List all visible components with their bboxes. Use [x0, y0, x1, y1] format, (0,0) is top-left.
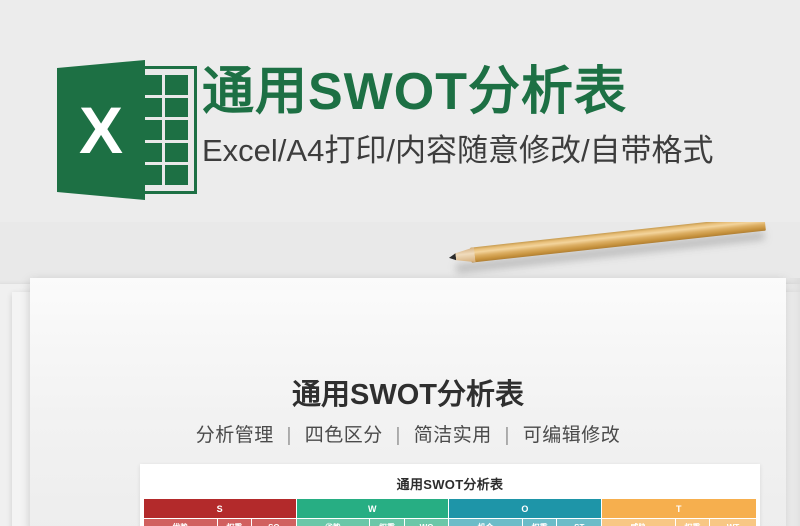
subheader-o-item: 机会 — [449, 519, 523, 526]
tag-separator-1: | — [280, 425, 299, 446]
subheader-s-item: 优势 — [144, 519, 218, 526]
subheader-s-weight: 权重 — [217, 519, 252, 526]
preview-feature-tags: 分析管理 | 四色区分 | 简洁实用 | 可编辑修改 — [30, 420, 786, 447]
subheader-t-item: 威胁 — [602, 519, 676, 526]
group-header-o: O — [449, 499, 602, 519]
pencil-icon — [447, 222, 767, 275]
banner-title: 通用SWOT分析表 — [202, 66, 627, 118]
subheader-w-cross: WO — [404, 519, 449, 526]
subheader-o-weight: 权重 — [522, 519, 557, 526]
banner-subtitle: Excel/A4打印/内容随意修改/自带格式 — [202, 132, 714, 171]
document-preview-stage: 通用SWOT分析表 分析管理 | 四色区分 | 简洁实用 | 可编辑修改 通用S… — [0, 222, 800, 526]
paper-sheet-front: 通用SWOT分析表 分析管理 | 四色区分 | 简洁实用 | 可编辑修改 通用S… — [30, 278, 786, 526]
swot-group-header-row: S W O T — [144, 499, 757, 519]
subheader-o-cross: ST — [557, 519, 602, 526]
subheader-w-item: 劣势 — [296, 519, 370, 526]
subheader-w-weight: 权重 — [370, 519, 405, 526]
logo-grid-cells — [138, 75, 188, 185]
feature-tag-1: 分析管理 — [196, 425, 274, 446]
feature-tag-2: 四色区分 — [305, 425, 383, 446]
subheader-t-cross: WT — [710, 519, 757, 526]
tag-separator-3: | — [498, 425, 517, 446]
tag-separator-2: | — [389, 425, 408, 446]
swot-subheader-row: 优势 权重 SO 劣势 权重 WO 机会 权重 ST 威胁 权重 WT — [144, 519, 757, 526]
preview-document-title: 通用SWOT分析表 — [30, 371, 786, 413]
group-header-t: T — [602, 499, 757, 519]
swot-table-sheet: 通用SWOT分析表 S W O T 优势 — [140, 464, 760, 526]
feature-tag-4: 可编辑修改 — [523, 425, 621, 446]
excel-logo-icon: X — [57, 60, 202, 200]
subheader-t-weight: 权重 — [675, 519, 710, 526]
promo-banner: X 通用SWOT分析表 Excel/A4打印/内容随意修改/自带格式 — [0, 0, 800, 222]
logo-letter-x: X — [57, 60, 145, 200]
group-header-s: S — [144, 499, 297, 519]
paper-right-edge-highlight — [786, 278, 800, 526]
pencil-lead-tip — [449, 253, 457, 261]
subheader-s-cross: SO — [252, 519, 297, 526]
group-header-w: W — [296, 499, 449, 519]
feature-tag-3: 简洁实用 — [414, 425, 492, 446]
swot-table: S W O T 优势 权重 SO 劣势 权重 WO 机会 权重 ST — [143, 498, 757, 526]
swot-table-title: 通用SWOT分析表 — [140, 474, 760, 493]
